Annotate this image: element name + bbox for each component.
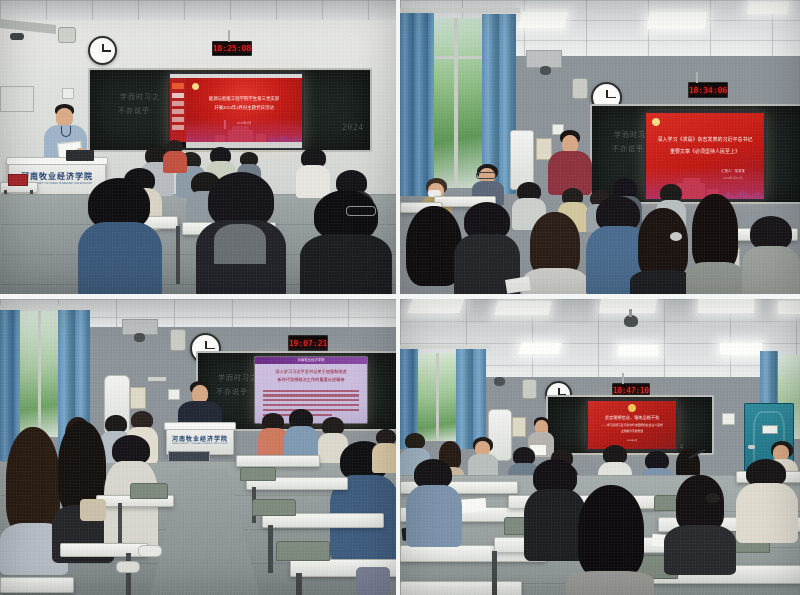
slide-line1: 坚定理想信念，锤炼品格干劲	[588, 415, 676, 421]
photo-scene: 18:25:08 学而时习之 不亦说乎 2024	[0, 0, 396, 294]
speaker-icon	[572, 78, 588, 99]
shoe	[138, 545, 162, 557]
presenter	[548, 130, 592, 196]
red-book	[8, 174, 28, 186]
ceiling	[0, 0, 396, 22]
student	[296, 148, 330, 196]
podium-text: 河南牧业经济学院	[167, 434, 233, 443]
whiteboard-side	[0, 86, 34, 112]
desk-leg	[118, 503, 122, 543]
slide-line2: 开展2024年4月份主题党日活动	[186, 105, 302, 111]
speaker-icon	[522, 379, 537, 399]
panel-light	[407, 299, 464, 313]
desk	[0, 577, 74, 593]
camera-icon	[540, 66, 551, 75]
panel-light	[518, 12, 569, 28]
curtain-left	[400, 10, 434, 196]
camera-stem	[629, 309, 632, 317]
student	[372, 429, 396, 471]
slide-line2: 新时代思想政治工作的重要论述精神	[261, 377, 361, 383]
panel-light	[494, 301, 551, 315]
led-time: 18:34:06	[689, 83, 727, 97]
panel-light	[599, 299, 657, 313]
window	[430, 18, 486, 188]
slide-canvas: 能源与智能工程学院学生第三党支部 开展2024年4月份主题党日活动 2024年4…	[186, 78, 302, 142]
panel-light	[519, 343, 561, 354]
desk-leg	[296, 573, 302, 595]
slide-line1: 深入学习习近平总书记关于加强和改进	[261, 369, 361, 375]
desk	[236, 455, 320, 467]
student-foreground	[736, 459, 798, 541]
panel-light	[747, 2, 789, 14]
photo-scene: 19:07:21 学而时习之 不亦说乎 河南牧业经济学院 深入学习习近平总书记关…	[0, 299, 396, 595]
led-bracket	[228, 30, 230, 42]
photo-bottom-left[interactable]: 19:07:21 学而时习之 不亦说乎 河南牧业经济学院 深入学习习近平总书记关…	[0, 299, 396, 595]
led-clock-icon: 18:25:08	[212, 41, 252, 56]
student-foreground	[406, 459, 462, 545]
slide-emblem	[192, 83, 199, 90]
faucet	[148, 377, 166, 381]
laptop	[66, 150, 94, 161]
desk-leg	[492, 551, 497, 595]
air-conditioner	[510, 130, 534, 190]
control-box	[130, 387, 146, 409]
bag	[80, 499, 106, 521]
eyeglasses	[346, 206, 376, 216]
student	[284, 409, 318, 459]
desk	[400, 581, 522, 595]
chair	[252, 499, 296, 516]
led-time: 19:07:21	[289, 336, 327, 350]
led-clock-icon: 18:34:06	[688, 82, 728, 98]
student-foreground	[300, 190, 392, 294]
student-foreground	[196, 172, 286, 294]
student-foreground	[566, 485, 654, 595]
window-frame	[38, 311, 41, 437]
window-frame	[436, 353, 439, 441]
student	[163, 140, 187, 170]
led-clock-icon: 19:07:21	[288, 335, 328, 351]
slide-footer: 2024年4月	[588, 439, 676, 442]
led-time: 18:25:08	[213, 42, 251, 55]
camera-icon	[134, 333, 145, 342]
party-emblem-icon	[628, 404, 636, 412]
led-bracket	[696, 72, 698, 83]
slide-line1: 深入学习《求是》杂志发表的习近平总书记	[646, 137, 764, 144]
window-frame	[430, 56, 486, 59]
panel-light	[647, 12, 708, 29]
slide-header: 河南牧业经济学院	[255, 358, 367, 363]
student-foreground	[78, 178, 162, 294]
door-handle[interactable]	[748, 445, 755, 449]
speaker-icon	[170, 329, 186, 351]
curtain-right	[456, 349, 486, 449]
slide-line2: 重要文章《必须坚持人民至上》	[646, 149, 764, 156]
camera-icon	[494, 377, 505, 386]
chair	[276, 541, 330, 561]
tiananmen-graphic	[186, 118, 302, 142]
student-foreground	[686, 194, 744, 294]
panel-light	[778, 301, 800, 314]
camera-icon	[10, 33, 24, 40]
slide-line1: 能源与智能工程学院学生第三党支部	[186, 96, 302, 102]
desk-leg	[176, 226, 180, 284]
student	[468, 437, 498, 479]
desk	[60, 543, 148, 557]
wall-outlet	[62, 88, 74, 99]
chair	[130, 483, 168, 499]
control-box	[512, 417, 526, 437]
panel-light	[698, 299, 754, 313]
projection-screen: 坚定理想信念，锤炼品格干劲 ——学习贯彻习近平新时代中国特色社会主义思想 主题教…	[586, 399, 678, 451]
photo-scene: 18:47:10 2024 坚定理想信念，锤炼品格干劲 ——学习贯彻习近平新时代…	[400, 299, 800, 595]
student-foreground	[664, 475, 736, 573]
panel-light	[720, 343, 763, 355]
led-bracket	[622, 373, 624, 384]
student-foreground	[742, 216, 800, 294]
desk-leg	[268, 525, 273, 573]
slide-emblem	[652, 118, 660, 126]
door-sign	[762, 425, 778, 434]
wall-clock	[88, 36, 117, 65]
photo-bottom-right[interactable]: 18:47:10 2024 坚定理想信念，锤炼品格干劲 ——学习贯彻习近平新时代…	[400, 299, 800, 595]
shoe	[116, 561, 140, 573]
student-foreground	[522, 212, 588, 294]
photo-scene: 18:34:06 学而时习之 不亦说乎 2024 深入学习《求是》杂志发表的习近…	[400, 0, 800, 294]
curtain-rail	[0, 305, 94, 310]
panel-light	[618, 345, 659, 356]
photo-collage: 18:25:08 学而时习之 不亦说乎 2024	[0, 0, 800, 595]
desk-leg	[126, 553, 131, 595]
slide-line3: 主题教育专题党课	[588, 430, 676, 434]
curtain-rail	[400, 345, 490, 349]
backpack	[356, 567, 390, 595]
student-foreground	[630, 208, 694, 294]
eyeglasses	[476, 172, 496, 179]
curtain-rail	[400, 8, 520, 13]
speaker-icon	[58, 27, 76, 43]
slide-line2: ——学习贯彻习近平新时代中国特色社会主义思想	[588, 424, 676, 428]
podium-subtext: HENAN UNIVERSITY OF ANIMAL HUSBANDRY AND…	[167, 443, 233, 445]
lanyard	[61, 126, 71, 137]
photo-top-left[interactable]: 18:25:08 学而时习之 不亦说乎 2024	[0, 0, 396, 294]
wall-outlet	[722, 413, 735, 425]
chair	[240, 467, 276, 481]
photo-top-right[interactable]: 18:34:06 学而时习之 不亦说乎 2024 深入学习《求是》杂志发表的习近…	[400, 0, 800, 294]
projection-screen: 能源与智能工程学院学生第三党支部 开展2024年4月份主题党日活动 2024年4…	[168, 72, 304, 150]
window-frame	[454, 18, 458, 188]
